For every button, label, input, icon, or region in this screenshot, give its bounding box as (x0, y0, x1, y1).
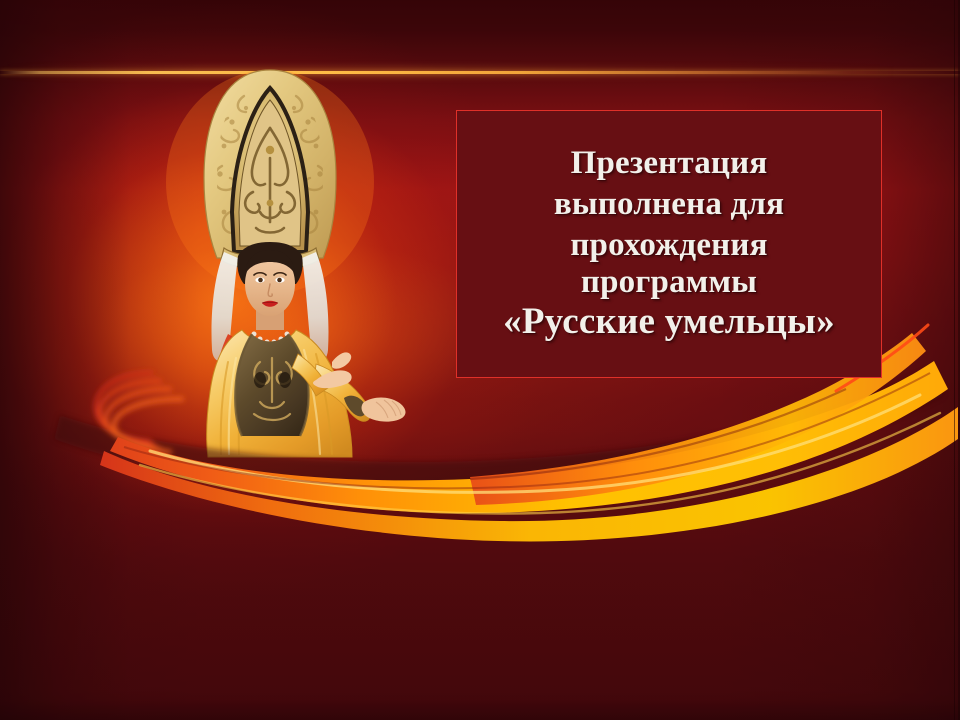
title-line-2: выполнена для (554, 188, 784, 222)
title-line-3: прохождения (570, 229, 767, 263)
title-text-box: Презентация выполнена для прохождения пр… (456, 110, 882, 378)
slide-frame-line (954, 0, 955, 720)
gold-ribbon-swoosh (0, 355, 960, 540)
title-line-5: «Русские умельцы» (503, 303, 835, 341)
title-line-1: Презентация (571, 147, 768, 181)
face (245, 250, 295, 316)
title-line-4: программы (581, 266, 757, 300)
presentation-slide: Презентация выполнена для прохождения пр… (0, 0, 960, 720)
kokoshnik (204, 70, 336, 270)
